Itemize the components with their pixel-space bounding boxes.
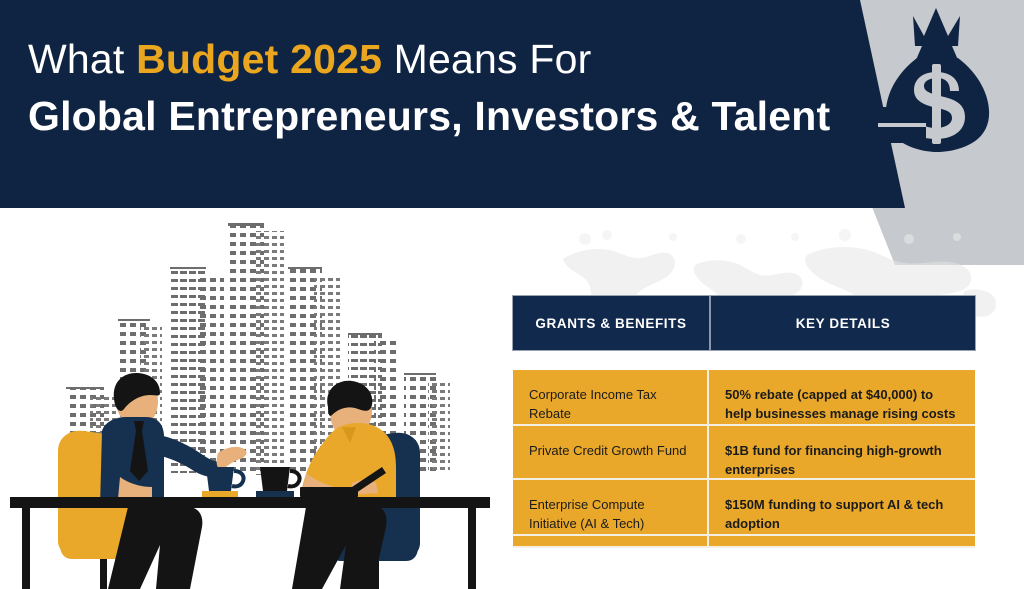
grants-benefits-table: GRANTS & BENEFITS KEY DETAILS Corporate … [513,296,975,548]
black-coffee-cup [256,467,300,499]
table-body: Corporate Income Tax Rebate 50% rebate (… [513,370,975,548]
cell-details [709,536,975,546]
infographic-canvas: What Budget 2025 Means For Global Entrep… [0,0,1024,589]
desk-pad [300,487,358,497]
table-header-row: GRANTS & BENEFITS KEY DETAILS [513,296,975,350]
column-header-key-details: KEY DETAILS [711,296,975,350]
cell-details: $150M funding to support AI & tech adopt… [709,480,975,534]
cell-details: 50% rebate (capped at $40,000) to help b… [709,370,975,424]
title-suffix: Means For [382,36,591,82]
table-row-partial [513,536,975,548]
page-title: What Budget 2025 Means For Global Entrep… [28,36,828,143]
cell-details: $1B fund for financing high-growth enter… [709,426,975,478]
column-header-grants: GRANTS & BENEFITS [513,296,711,350]
two-businessmen-at-desk-illustration [0,215,512,589]
title-line-2: Global Entrepreneurs, Investors & Talent [28,90,828,143]
table-row: Corporate Income Tax Rebate 50% rebate (… [513,370,975,426]
gold-chair-leg [100,559,107,589]
cell-benefit: Corporate Income Tax Rebate [513,370,709,424]
cell-benefit: Enterprise Compute Initiative (AI & Tech… [513,480,709,534]
title-line-1: What Budget 2025 Means For [28,36,828,84]
title-prefix: What [28,36,136,82]
table-row: Private Credit Growth Fund $1B fund for … [513,426,975,480]
navy-coffee-cup [202,467,244,499]
table-row: Enterprise Compute Initiative (AI & Tech… [513,480,975,536]
cell-benefit: Private Credit Growth Fund [513,426,709,478]
cell-benefit [513,536,709,546]
title-accent: Budget 2025 [136,36,382,82]
money-bag-with-crown-icon [866,2,1016,162]
